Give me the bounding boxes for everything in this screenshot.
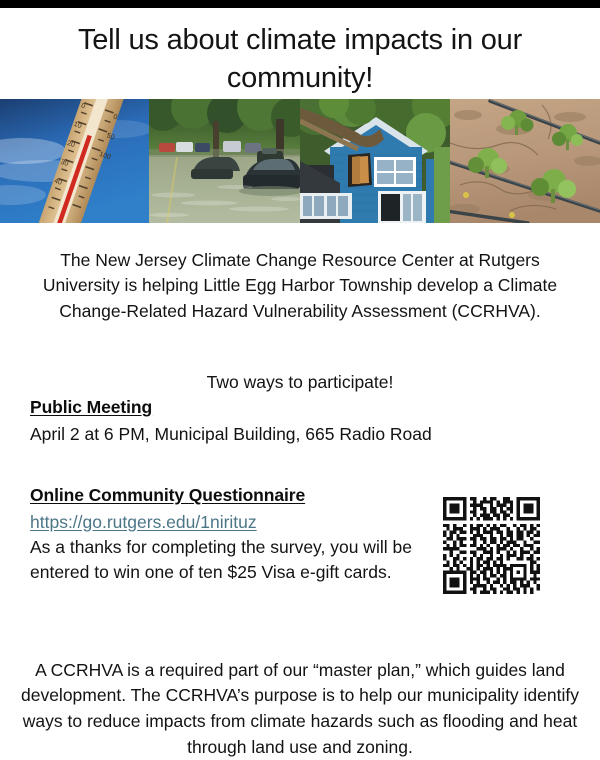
public-meeting-details: April 2 at 6 PM, Municipal Building, 665… xyxy=(30,422,570,447)
thermometer-heat-photo: 01020 3040 050100 xyxy=(0,99,149,223)
photo-strip: 01020 3040 050100 xyxy=(0,99,600,223)
public-meeting-block: Public Meeting April 2 at 6 PM, Municipa… xyxy=(30,396,570,446)
survey-incentive-text: As a thanks for completing the survey, y… xyxy=(30,535,415,585)
drought-cracked-field-photo xyxy=(450,99,600,223)
top-black-bar xyxy=(0,0,600,8)
flooded-street-photo xyxy=(149,99,300,223)
public-meeting-heading: Public Meeting xyxy=(30,396,570,420)
qr-code[interactable] xyxy=(443,497,540,594)
intro-paragraph: The New Jersey Climate Change Resource C… xyxy=(0,248,600,325)
page-title: Tell us about climate impacts in our com… xyxy=(0,8,600,98)
survey-link[interactable]: https://go.rutgers.edu/1nirituz xyxy=(30,510,257,535)
storm-damaged-house-photo xyxy=(300,99,450,223)
closing-paragraph: A CCRHVA is a required part of our “mast… xyxy=(0,658,600,760)
online-questionnaire-heading: Online Community Questionnaire xyxy=(30,484,430,508)
participate-prompt: Two ways to participate! xyxy=(0,370,600,396)
online-questionnaire-block: Online Community Questionnaire https://g… xyxy=(30,484,430,585)
